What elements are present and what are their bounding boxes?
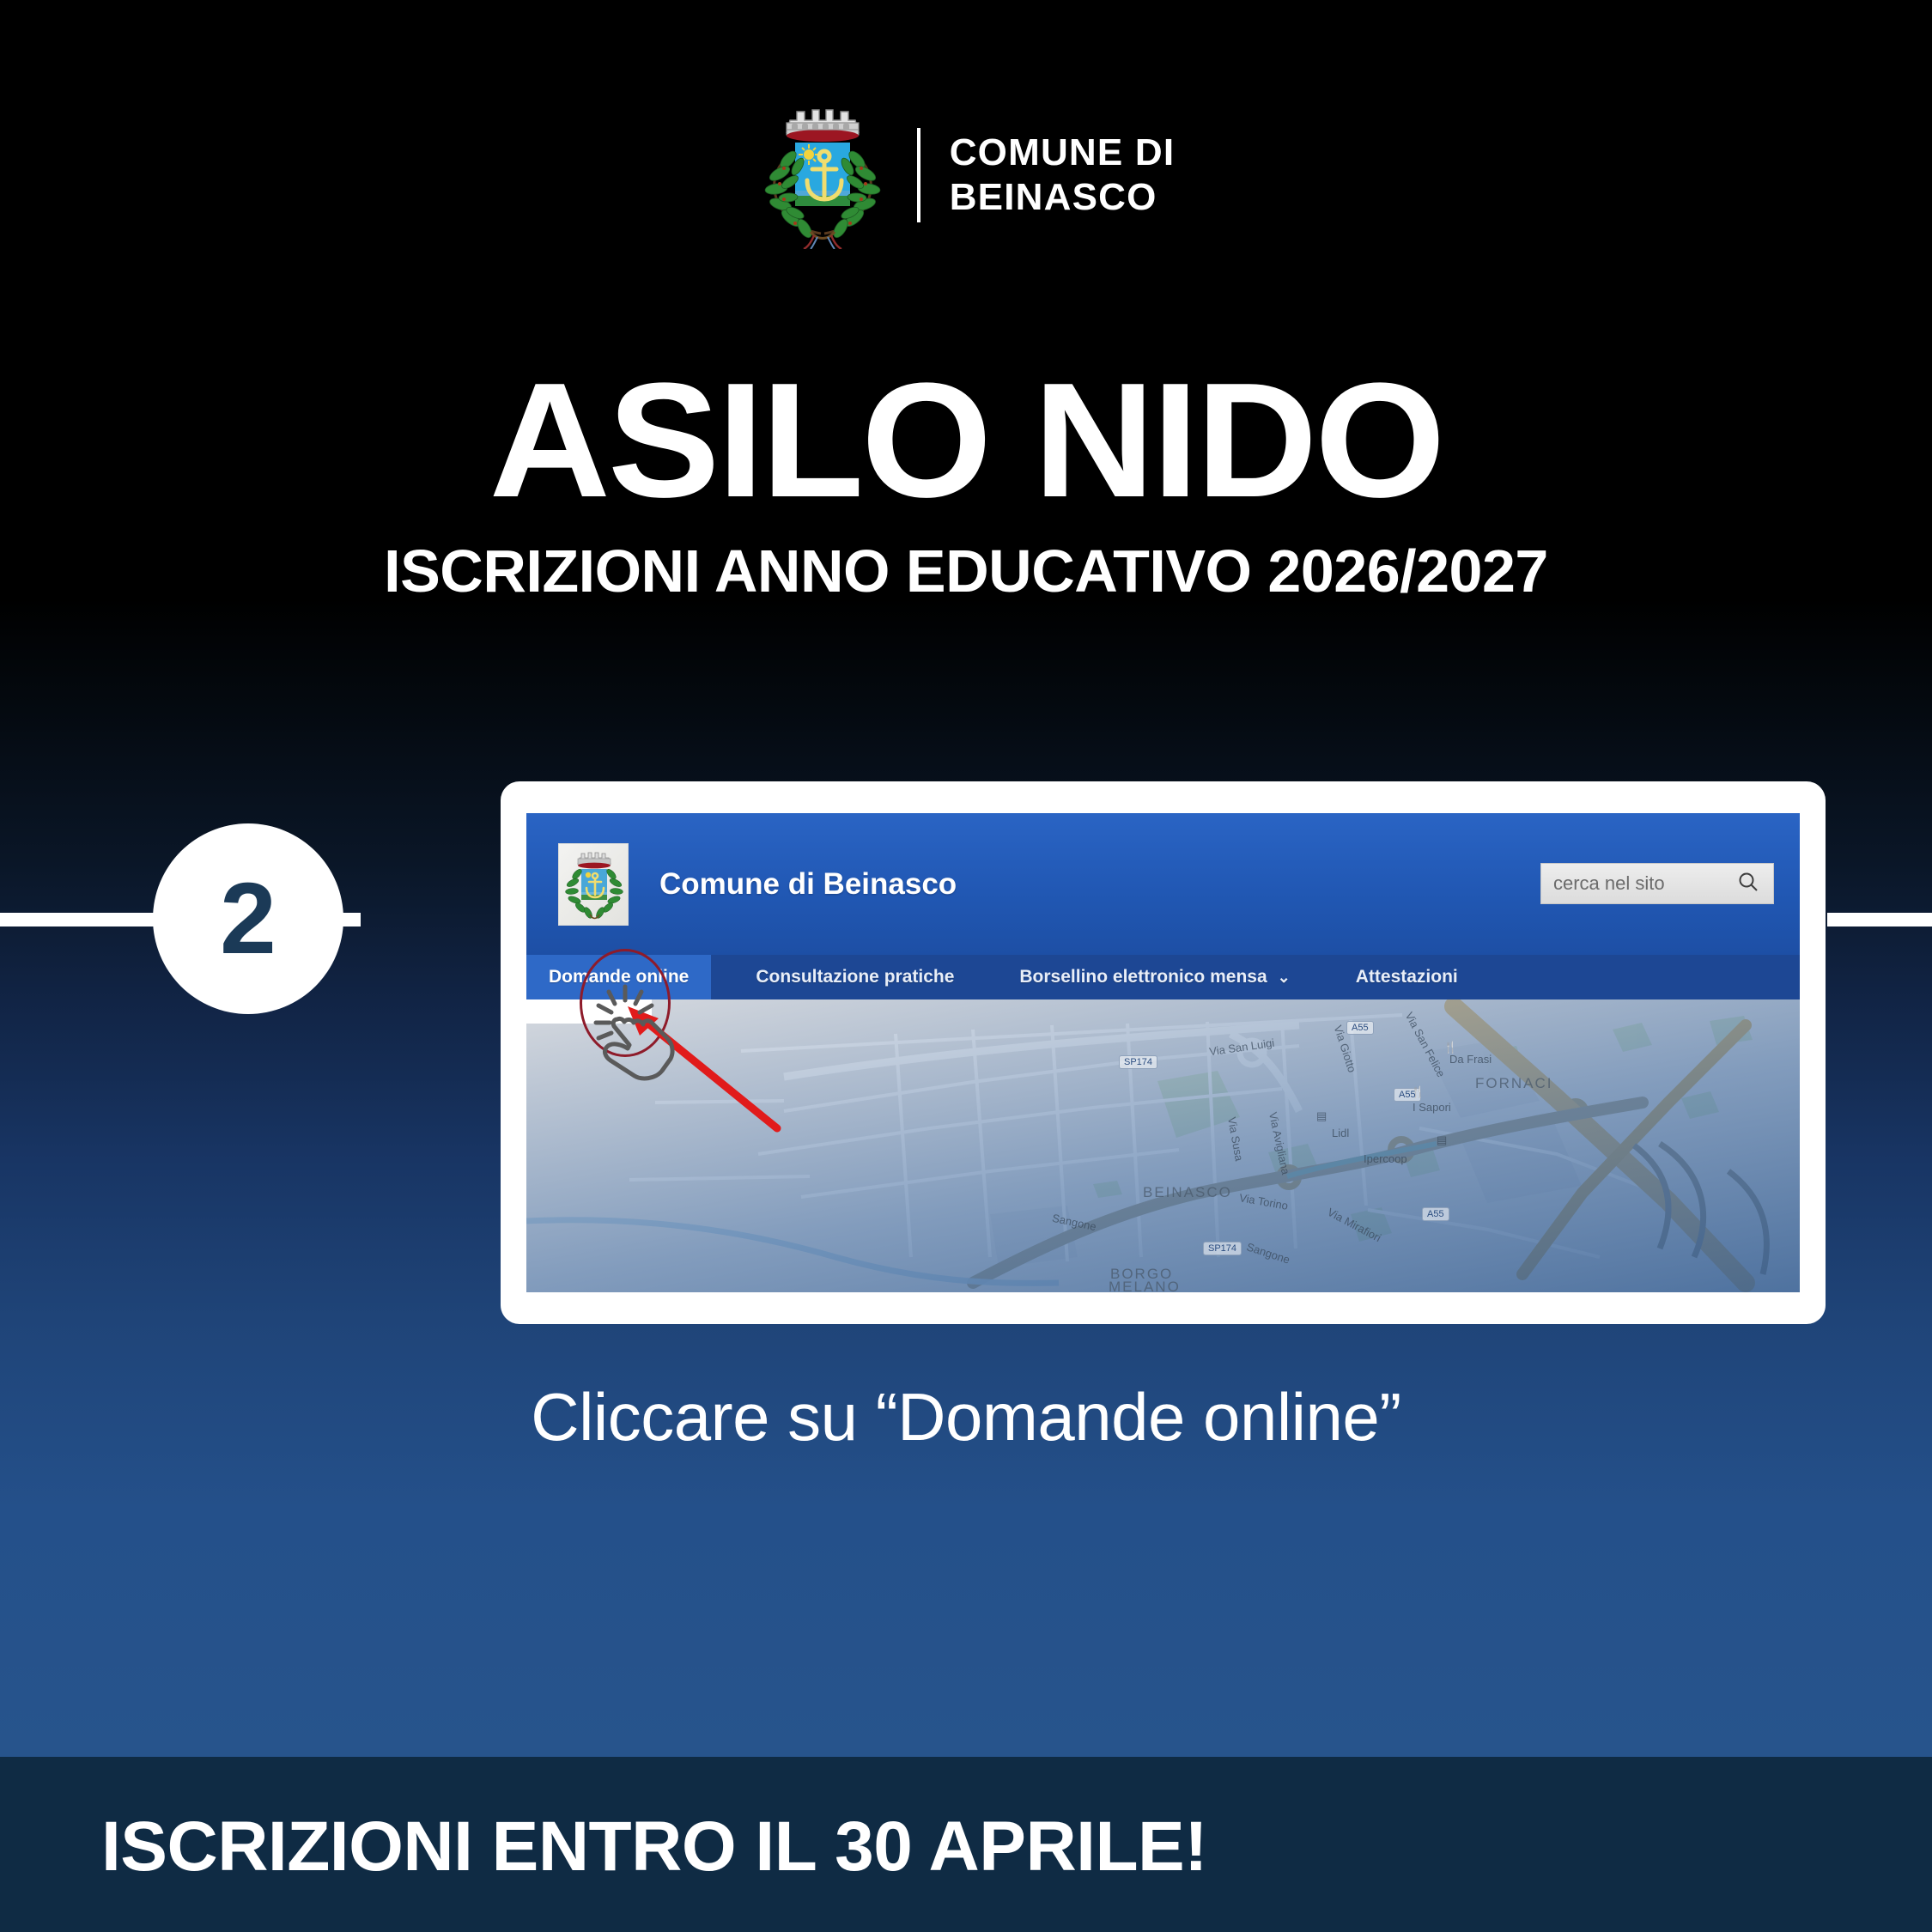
- browser-window-frame: Comune di Beinasco cerca nel sito Domand…: [501, 781, 1826, 1324]
- page-title: ASILO NIDO: [0, 359, 1932, 522]
- nav-label: Borsellino elettronico mensa: [1019, 967, 1267, 987]
- map-route-shield: SP174: [1203, 1242, 1242, 1255]
- map-route-shield: A55: [1346, 1021, 1374, 1035]
- poi-restaurant-icon: 🍴: [1411, 1085, 1425, 1099]
- step-number: 2: [220, 868, 276, 969]
- comune-crest-icon: [558, 843, 629, 926]
- poi-store-icon: ▤: [1437, 1133, 1447, 1147]
- site-title: Comune di Beinasco: [659, 867, 957, 902]
- beinasco-coat-of-arms-icon: [757, 101, 888, 249]
- brand-line-2: BEINASCO: [950, 175, 1176, 220]
- poi-store-icon: ▤: [1316, 1109, 1327, 1123]
- map-label: Da Frasi: [1449, 1053, 1492, 1066]
- map-route-shield: A55: [1422, 1207, 1449, 1221]
- page-subtitle: ISCRIZIONI ANNO EDUCATIVO 2026/2027: [0, 537, 1932, 605]
- nav-label: Consultazione pratiche: [756, 967, 954, 987]
- map-label: Ipercoop: [1364, 1152, 1407, 1165]
- timeline-rule-right: [1827, 913, 1932, 927]
- nav-spacer: [711, 955, 735, 999]
- nav-label: Attestazioni: [1356, 967, 1458, 987]
- map-label: Lidl: [1332, 1127, 1349, 1139]
- site-navigation: Domande online Consultazione pratiche Bo…: [526, 955, 1800, 999]
- search-input[interactable]: cerca nel sito: [1553, 872, 1737, 895]
- nav-spacer: [975, 955, 999, 999]
- brand-line-1: COMUNE DI: [950, 131, 1176, 175]
- brand-divider: [917, 128, 920, 222]
- site-header: Comune di Beinasco cerca nel sito: [526, 813, 1800, 955]
- deadline-banner-text: ISCRIZIONI ENTRO IL 30 APRILE!: [101, 1807, 1207, 1887]
- map-label: I Sapori: [1413, 1101, 1451, 1114]
- step-number-badge: 2: [153, 823, 343, 1014]
- site-search-box[interactable]: cerca nel sito: [1540, 863, 1774, 904]
- pointing-hand-click-icon: [588, 981, 691, 1087]
- brand-header: COMUNE DI BEINASCO: [0, 101, 1932, 249]
- nav-spacer: [1311, 955, 1335, 999]
- map-label: BEINASCO: [1143, 1184, 1232, 1201]
- map-route-shield: SP174: [1119, 1055, 1157, 1069]
- chevron-down-icon[interactable]: ⌄: [1278, 969, 1291, 987]
- poi-restaurant-icon: 🍴: [1443, 1041, 1457, 1054]
- browser-viewport: Comune di Beinasco cerca nel sito Domand…: [526, 813, 1800, 1292]
- step-caption: Cliccare su “Domande online”: [0, 1378, 1932, 1456]
- nav-item-borsellino-elettronico-mensa[interactable]: Borsellino elettronico mensa ⌄: [999, 955, 1310, 999]
- brand-title: COMUNE DI BEINASCO: [950, 131, 1176, 220]
- map-label: MELANO: [1109, 1279, 1181, 1292]
- nav-item-consultazione-pratiche[interactable]: Consultazione pratiche: [735, 955, 975, 999]
- map-label: FORNACI: [1475, 1075, 1553, 1092]
- search-icon[interactable]: [1737, 871, 1759, 897]
- nav-item-attestazioni[interactable]: Attestazioni: [1335, 955, 1479, 999]
